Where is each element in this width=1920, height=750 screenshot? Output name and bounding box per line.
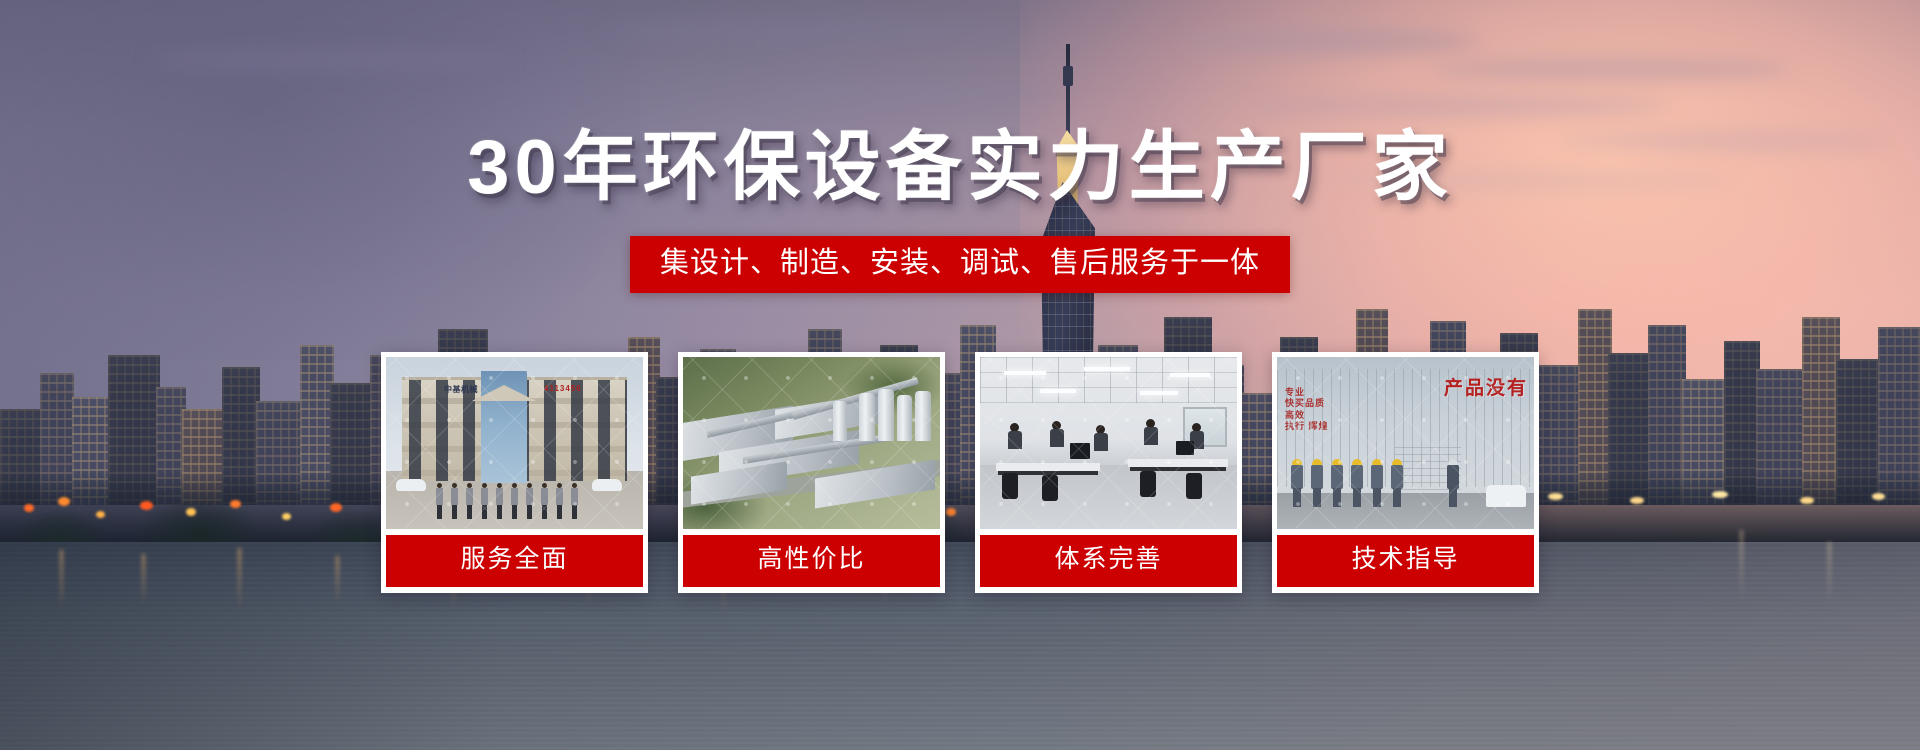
card-caption: 体系完善: [980, 535, 1237, 587]
card1-phone-number: 4113456: [544, 384, 582, 393]
feature-card-row: 中基机械 4113456 服务全面: [381, 352, 1539, 593]
feature-card[interactable]: 高性价比: [678, 352, 945, 593]
card4-wall-slogan: 产品没有: [1444, 373, 1528, 400]
card-photo-factory-workshop: 专业快买品质高效执行 辉煌 产品没有: [1277, 357, 1534, 529]
page-title: 30年环保设备实力生产厂家: [0, 130, 1920, 206]
feature-card[interactable]: 体系完善: [975, 352, 1242, 593]
feature-card[interactable]: 专业快买品质高效执行 辉煌 产品没有 技术指导: [1272, 352, 1539, 593]
card-caption: 服务全面: [386, 535, 643, 587]
hero-banner: 30年环保设备实力生产厂家 集设计、制造、安装、调试、售后服务于一体 中基机械 …: [0, 0, 1920, 750]
card-photo-production-plant: [683, 357, 940, 529]
card-caption: 技术指导: [1277, 535, 1534, 587]
card-photo-headquarters: 中基机械 4113456: [386, 357, 643, 529]
feature-card[interactable]: 中基机械 4113456 服务全面: [381, 352, 648, 593]
card-caption: 高性价比: [683, 535, 940, 587]
card-photo-office-interior: [980, 357, 1237, 529]
subtitle-badge: 集设计、制造、安装、调试、售后服务于一体: [630, 236, 1290, 293]
card1-company-name: 中基机械: [444, 384, 478, 395]
